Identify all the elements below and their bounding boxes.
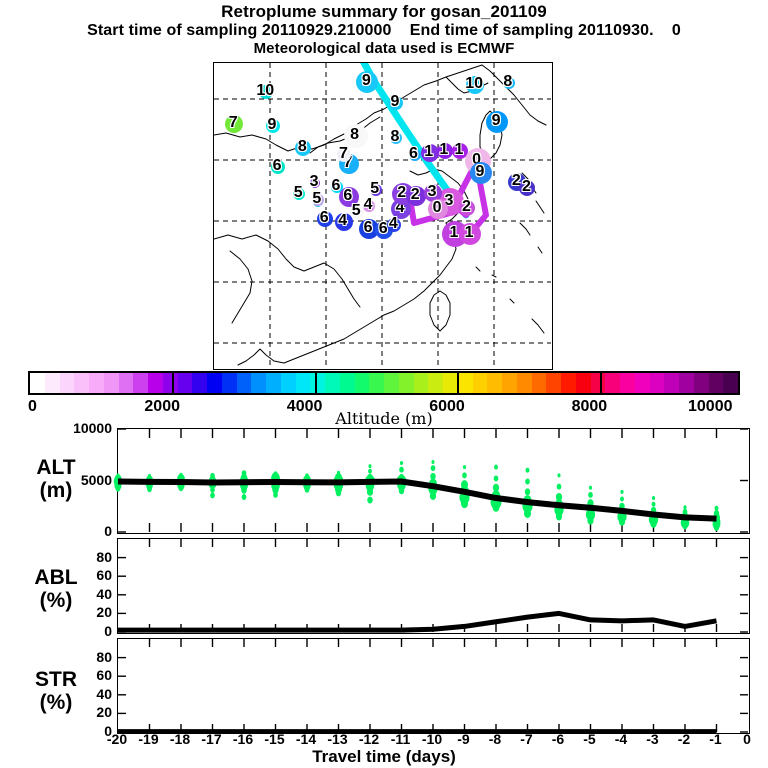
map-marker-label: 0 <box>433 200 442 216</box>
map-marker-label: 5 <box>370 181 379 197</box>
colorbar-segment <box>532 373 547 393</box>
y-axis-tick-label: 0 <box>50 524 112 538</box>
y-axis-tick-label: 40 <box>50 687 112 701</box>
colorbar-segment <box>502 373 517 393</box>
map-marker-label: 6 <box>364 220 373 236</box>
colorbar-segment <box>192 373 207 393</box>
map-marker-label: 8 <box>391 129 400 145</box>
map-marker-label: 2 <box>411 187 420 203</box>
map-marker-label: 6 <box>409 146 418 162</box>
map-marker-label: 6 <box>273 158 282 174</box>
colorbar-segment <box>237 373 252 393</box>
map-marker-label: 6 <box>332 178 341 194</box>
x-axis-tick-label: -16 <box>233 732 253 746</box>
map-marker-label: 9 <box>362 73 371 89</box>
map-marker-label: 9 <box>268 117 277 133</box>
colorbar-major-division <box>600 373 602 393</box>
map-marker-label: 8 <box>350 127 359 143</box>
y-axis-tick-label: 0 <box>50 624 112 638</box>
y-axis-tick-label: 60 <box>50 668 112 682</box>
map-marker-label: 1 <box>465 225 474 241</box>
x-axis-tick-label: -3 <box>646 732 658 746</box>
colorbar-segment <box>709 373 724 393</box>
x-axis-tick-label: 0 <box>743 732 751 746</box>
x-axis-tick-label: -10 <box>422 732 442 746</box>
colorbar-segment <box>266 373 281 393</box>
colorbar-segment <box>591 373 606 393</box>
map-marker-label: 4 <box>364 197 373 213</box>
colorbar-title: Altitude (m) <box>0 411 768 427</box>
colorbar-segment <box>679 373 694 393</box>
map-marker-label: 9 <box>475 164 484 180</box>
x-axis-tick-label: -17 <box>201 732 221 746</box>
colorbar-segment <box>251 373 266 393</box>
colorbar-segment <box>119 373 134 393</box>
x-axis-tick-label: -5 <box>583 732 595 746</box>
x-axis-tick-label: -7 <box>520 732 532 746</box>
y-axis-tick-label: 0 <box>50 724 112 738</box>
colorbar-segment <box>45 373 60 393</box>
title-block: Retroplume summary for gosan_201109 Star… <box>0 0 768 58</box>
map-marker-label: 9 <box>492 113 501 129</box>
map-marker-label: 2 <box>522 179 531 195</box>
map-panel[interactable]: 1079865349108988776665566444611109223211… <box>213 62 553 370</box>
colorbar-segment <box>325 373 340 393</box>
x-axis-tick-label: -14 <box>296 732 316 746</box>
x-axis-tick-label: -12 <box>359 732 379 746</box>
colorbar-segment <box>384 373 399 393</box>
y-axis-tick-label: 40 <box>50 587 112 601</box>
colorbar-segment <box>576 373 591 393</box>
colorbar-segment <box>355 373 370 393</box>
x-axis-tick-label: -8 <box>489 732 501 746</box>
colorbar-segment <box>473 373 488 393</box>
str-plot-area <box>118 639 748 732</box>
x-axis-tick-label: -2 <box>678 732 690 746</box>
map-marker-label: 1 <box>450 225 459 241</box>
colorbar-segment <box>222 373 237 393</box>
x-axis-tick-label: -15 <box>264 732 284 746</box>
colorbar-segment <box>723 373 738 393</box>
colorbar-segment <box>178 373 193 393</box>
trajectory-low-altitude <box>214 63 551 368</box>
map-marker-label: 3 <box>428 184 437 200</box>
colorbar-segment <box>74 373 89 393</box>
y-axis-tick-label: 80 <box>50 650 112 664</box>
x-axis-tick-label: -1 <box>709 732 721 746</box>
colorbar-segment <box>369 373 384 393</box>
x-axis-tick-label: -4 <box>615 732 627 746</box>
colorbar-segment <box>694 373 709 393</box>
map-marker-label: 6 <box>379 221 388 237</box>
colorbar-segment <box>517 373 532 393</box>
alt-plot-area <box>118 429 748 532</box>
colorbar-segment <box>487 373 502 393</box>
colorbar-major-division <box>457 373 459 393</box>
colorbar-gradient <box>28 371 740 395</box>
x-axis-title: Travel time (days) <box>0 748 768 765</box>
colorbar-segment <box>635 373 650 393</box>
map-marker-label: 3 <box>310 174 319 190</box>
colorbar-segment <box>148 373 163 393</box>
colorbar-segment <box>89 373 104 393</box>
colorbar-segment <box>605 373 620 393</box>
colorbar-segment <box>414 373 429 393</box>
map-marker-label: 5 <box>294 185 303 201</box>
sampling-time-line: Start time of sampling 20110929.210000 E… <box>0 21 768 40</box>
map-marker-label: 2 <box>397 185 406 201</box>
colorbar-segment <box>340 373 355 393</box>
colorbar-segment <box>650 373 665 393</box>
colorbar-segment <box>428 373 443 393</box>
map-marker-label: 4 <box>338 213 347 229</box>
map-marker-label: 1 <box>455 142 464 158</box>
colorbar-major-division <box>172 373 174 393</box>
colorbar-segment <box>546 373 561 393</box>
y-axis-tick-label: 80 <box>50 550 112 564</box>
map-marker-label: 8 <box>503 74 512 90</box>
y-axis-tick-label: 5000 <box>50 473 112 487</box>
map-marker-label: 10 <box>465 76 483 92</box>
colorbar-segment <box>443 373 458 393</box>
colorbar-segment <box>163 373 178 393</box>
x-axis-tick-label: -19 <box>138 732 158 746</box>
colorbar-segment <box>310 373 325 393</box>
x-axis-tick-label: -20 <box>107 732 127 746</box>
y-axis-tick-label: 20 <box>50 605 112 619</box>
colorbar-segment <box>664 373 679 393</box>
alt-chart-panel[interactable] <box>117 428 750 534</box>
meteo-data-line: Meteorological data used is ECMWF <box>0 40 768 58</box>
map-marker-label: 1 <box>424 144 433 160</box>
y-axis-tick-label: 60 <box>50 568 112 582</box>
map-marker-label: 8 <box>298 139 307 155</box>
map-marker-label: 5 <box>352 203 361 219</box>
abl-chart-panel[interactable] <box>117 538 750 634</box>
map-marker-label: 4 <box>389 216 398 232</box>
str-chart-panel[interactable] <box>117 638 750 734</box>
colorbar-segment <box>620 373 635 393</box>
map-marker-label: 1 <box>439 142 448 158</box>
colorbar-segment <box>296 373 311 393</box>
page-title: Retroplume summary for gosan_201109 <box>0 2 768 21</box>
abl-plot-area <box>118 539 748 632</box>
map-marker-label: 5 <box>312 191 321 207</box>
x-axis-tick-label: -9 <box>457 732 469 746</box>
colorbar-major-division <box>315 373 317 393</box>
colorbar-segment <box>60 373 75 393</box>
colorbar: 0200040006000800010000 <box>28 371 740 395</box>
colorbar-segment <box>458 373 473 393</box>
map-marker-label: 7 <box>339 146 348 162</box>
map-marker-label: 2 <box>462 199 471 215</box>
y-axis-tick-label: 10000 <box>50 421 112 435</box>
map-marker-label: 6 <box>320 210 329 226</box>
map-marker-label: 7 <box>229 115 238 131</box>
colorbar-segment <box>30 373 45 393</box>
x-axis-tick-label: -6 <box>552 732 564 746</box>
colorbar-segment <box>561 373 576 393</box>
map-marker-label: 9 <box>391 94 400 110</box>
colorbar-segment <box>104 373 119 393</box>
x-axis-tick-label: -11 <box>391 732 410 746</box>
colorbar-segment <box>281 373 296 393</box>
colorbar-segment <box>133 373 148 393</box>
colorbar-segment <box>399 373 414 393</box>
colorbar-segment <box>207 373 222 393</box>
map-marker-label: 10 <box>256 83 274 99</box>
x-axis-tick-label: -18 <box>170 732 190 746</box>
x-axis-tick-label: -13 <box>327 732 347 746</box>
y-axis-tick-label: 20 <box>50 705 112 719</box>
